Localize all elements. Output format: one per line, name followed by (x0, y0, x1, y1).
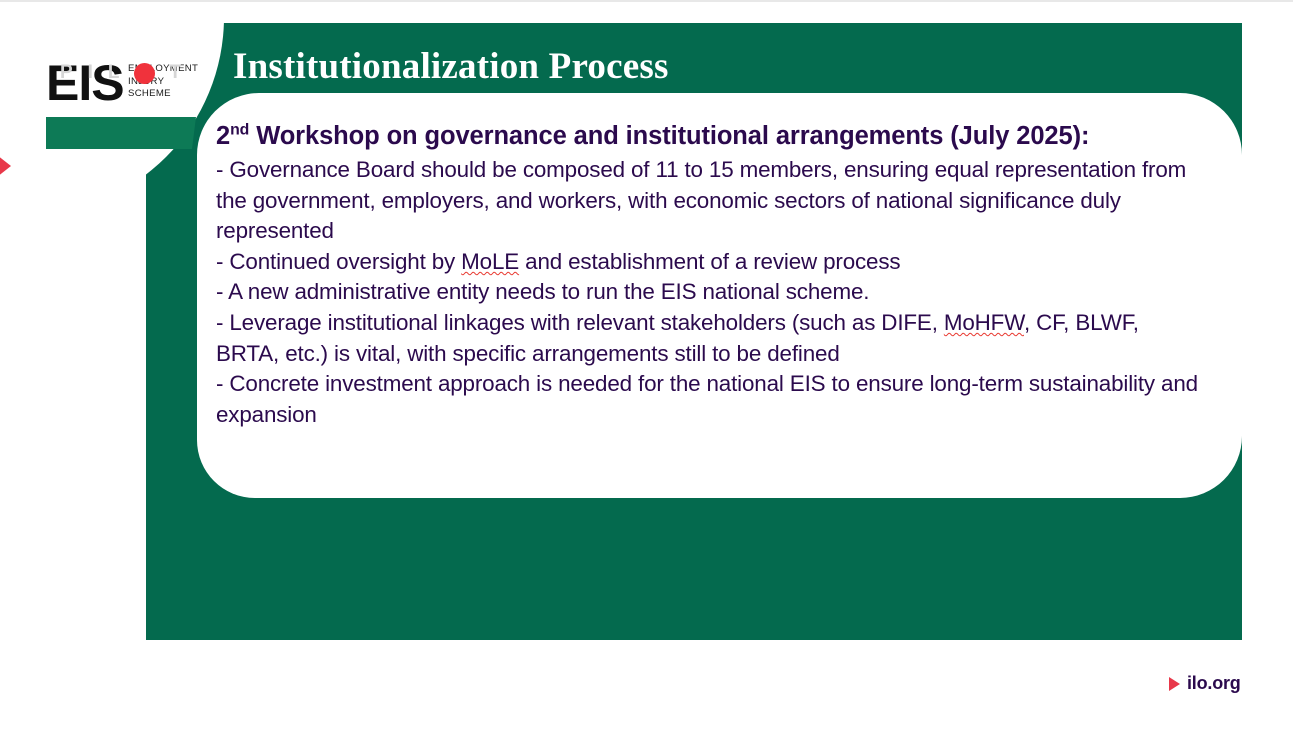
bullet-item-1: - Governance Board should be composed of… (216, 155, 1208, 247)
logo-subtitle-line-3: SCHEME (128, 88, 198, 101)
bullet-item-4: - Leverage institutional linkages with r… (216, 308, 1208, 369)
card-heading: 2nd Workshop on governance and instituti… (216, 119, 1208, 154)
logo-letter-p: P (60, 62, 74, 84)
bullet-item-3: - A new administrative entity needs to r… (216, 277, 1208, 308)
spellcheck-term-mole: MoLE (461, 249, 519, 274)
heading-colon: : (1081, 122, 1089, 150)
logo-letter-i: I (88, 62, 94, 84)
spellcheck-term-mohfw: MoHFW (944, 310, 1024, 335)
logo-red-dot-icon (134, 63, 155, 84)
heading-number: 2 (216, 122, 230, 150)
logo-pilot-banner (46, 117, 196, 149)
logo-letter-l: L (108, 62, 121, 84)
top-divider (0, 0, 1293, 2)
bullet-item-5: - Concrete investment approach is needed… (216, 369, 1208, 430)
heading-main-text: Workshop on governance and institutional… (249, 122, 1081, 150)
bullet-item-2: - Continued oversight by MoLE and establ… (216, 247, 1208, 278)
bullet-4-prefix: - Leverage institutional linkages with r… (216, 310, 944, 335)
bullet-2-prefix: - Continued oversight by (216, 249, 461, 274)
logo-pilot-letters: P I L T (46, 57, 196, 89)
eis-pilot-logo: EIS EMPLOYMENT INJURY SCHEME P I L T (46, 57, 198, 149)
bullet-2-suffix: and establishment of a review process (519, 249, 900, 274)
page-title: Institutionalization Process (233, 44, 1133, 90)
card-body: - Governance Board should be composed of… (216, 154, 1208, 430)
footer-website-label: ilo.org (1187, 673, 1241, 694)
play-triangle-icon (1169, 677, 1180, 691)
left-edge-arrow-icon (0, 155, 11, 177)
content-card: 2nd Workshop on governance and instituti… (197, 93, 1242, 498)
heading-ordinal-suffix: nd (230, 122, 249, 139)
logo-letter-t: T (169, 62, 182, 84)
footer: ilo.org (1169, 673, 1241, 694)
